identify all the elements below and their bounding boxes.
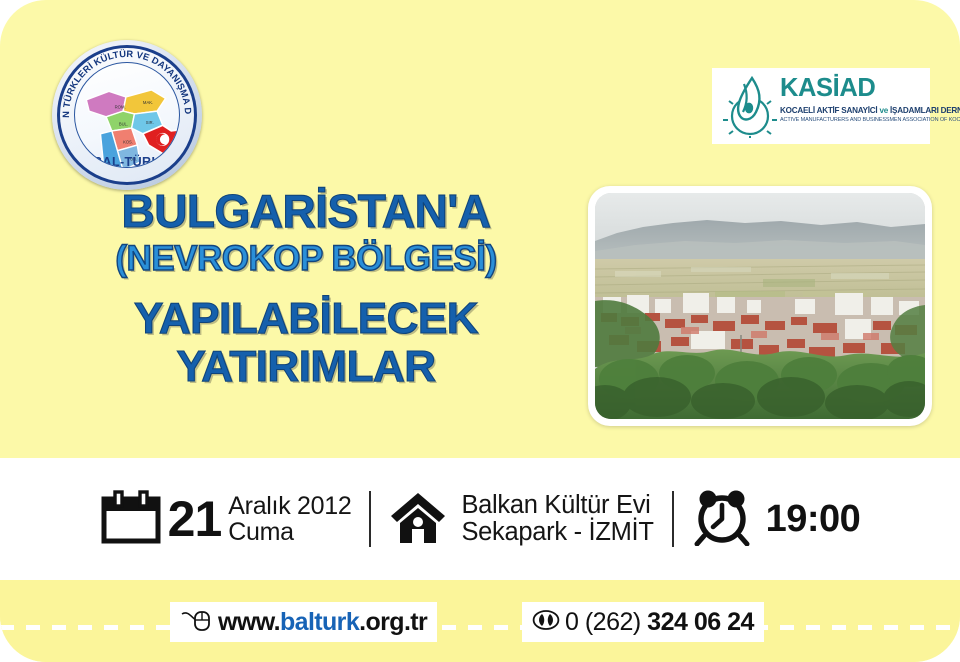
town-aerial-photo	[595, 193, 925, 419]
kasiad-subtitle-tr-part2: İŞADAMLARI DERNEĞİ	[890, 105, 960, 115]
kasiad-subtitle-tr-ve: ve	[879, 105, 888, 115]
town-aerial-photo-graphic	[595, 193, 925, 419]
seal-arc-text: BALKAN TÜRKLERİ KÜLTÜR VE DAYANIŞMA DERN…	[52, 40, 202, 190]
event-venue-line-1: Balkan Kültür Evi	[461, 492, 653, 519]
kasiad-subtitle-en: ACTIVE MANUFACTURERS AND BUSINESSMEN ASS…	[780, 117, 923, 124]
phone-number[interactable]: 0 (262) 324 06 24	[522, 602, 764, 642]
phone-digits: 324 06 24	[647, 608, 754, 636]
kasiad-subtitle-tr-part1: KOCAELİ AKTİF SANAYİCİ	[780, 105, 877, 115]
headline-line-1: BULGARİSTAN'A	[36, 188, 576, 235]
poster-canvas: TÜRKİYE ROM. MAK. BUL. SIR. KOS. YUN. BA…	[0, 0, 960, 662]
website-suffix: .org.tr	[359, 608, 427, 636]
phone-area: 0 (262)	[565, 608, 641, 636]
mouse-icon	[180, 608, 214, 637]
page-title: BULGARİSTAN'A (NEVROKOP BÖLGESİ) YAPILAB…	[36, 188, 576, 390]
photo-frame	[588, 186, 932, 426]
phone-icon	[532, 609, 560, 636]
website-link[interactable]: www.balturk.org.tr	[170, 602, 437, 642]
kasiad-flame-gear-icon	[722, 74, 778, 138]
event-date-block: 21 Aralık 2012 Cuma	[100, 489, 352, 550]
event-weekday: Cuma	[228, 519, 351, 546]
kasiad-wordmark: KASİAD	[780, 76, 926, 102]
website-text: www.balturk.org.tr	[218, 608, 427, 637]
seal-ring-text: BALKAN TÜRKLERİ KÜLTÜR VE DAYANIŞMA DERN…	[52, 40, 193, 118]
alarm-clock-icon	[692, 488, 752, 551]
event-venue-line-2: Sekapark - İZMİT	[461, 519, 653, 546]
website-brand: balturk	[280, 608, 359, 636]
event-day: 21	[168, 494, 222, 544]
website-prefix: www.	[218, 608, 280, 636]
kasiad-logo: KASİAD KOCAELİ AKTİF SANAYİCİ ve İŞADAML…	[712, 68, 930, 144]
event-month-year: Aralık 2012	[228, 493, 351, 520]
headline-line-4: YATIRIMLAR	[36, 345, 576, 390]
event-venue-text: Balkan Kültür Evi Sekapark - İZMİT	[461, 492, 653, 546]
footer-band	[0, 580, 960, 662]
phone-text: 0 (262) 324 06 24	[565, 608, 754, 637]
info-divider-2	[672, 491, 674, 547]
house-icon	[389, 489, 447, 550]
bal-turk-logo: TÜRKİYE ROM. MAK. BUL. SIR. KOS. YUN. BA…	[52, 40, 202, 190]
event-info-band: 21 Aralık 2012 Cuma B	[0, 458, 960, 580]
kasiad-text-block: KASİAD KOCAELİ AKTİF SANAYİCİ ve İŞADAML…	[780, 72, 926, 123]
event-time-block: 19:00	[692, 488, 861, 551]
headline-line-3: YAPILABİLECEK	[36, 297, 576, 342]
calendar-icon	[100, 489, 162, 550]
kasiad-subtitle-tr: KOCAELİ AKTİF SANAYİCİ ve İŞADAMLARI DER…	[780, 106, 922, 116]
footer-dashed-line	[0, 625, 960, 630]
event-date-text: Aralık 2012 Cuma	[228, 493, 351, 546]
event-time: 19:00	[766, 498, 861, 541]
info-divider-1	[369, 491, 371, 547]
event-venue-block: Balkan Kültür Evi Sekapark - İZMİT	[389, 489, 653, 550]
headline-line-2: (NEVROKOP BÖLGESİ)	[36, 241, 576, 277]
